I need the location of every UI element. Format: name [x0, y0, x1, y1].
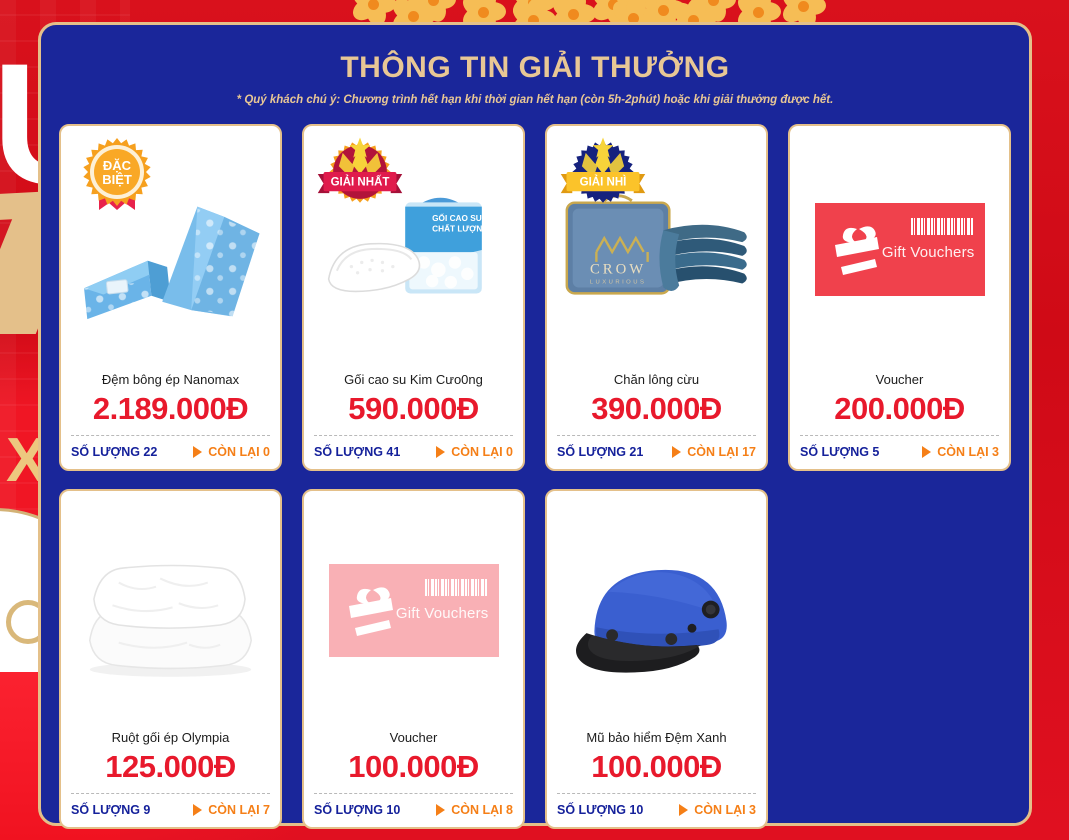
card-footer: SỐ LƯỢNG 5CÒN LẠI 3	[800, 435, 999, 469]
product-name: Ruột gối ép Olympia	[61, 730, 280, 745]
panel-note: * Quý khách chú ý: Chương trình hết hạn …	[59, 94, 1011, 106]
card-footer: SỐ LƯỢNG 10CÒN LẠI 8	[314, 793, 513, 827]
svg-text:CROW: CROW	[590, 262, 646, 278]
play-triangle-icon	[679, 804, 688, 816]
gift-voucher-label: Gift Vouchers	[882, 244, 975, 261]
svg-text:GỐI CAO SU: GỐI CAO SU	[432, 212, 482, 223]
product-name: Voucher	[790, 372, 1009, 387]
prize-card[interactable]: Gift VouchersVoucher200.000ĐSỐ LƯỢNG 5CÒ…	[788, 124, 1011, 471]
gift-voucher-image: Gift Vouchers	[815, 203, 985, 296]
svg-text:LUXURIOUS: LUXURIOUS	[590, 280, 647, 286]
prize-card[interactable]: ĐẶCBIỆTĐệm bông ép Nanomax2.189.000ĐSỐ L…	[59, 124, 282, 471]
prize-card[interactable]: Gift VouchersVoucher100.000ĐSỐ LƯỢNG 10C…	[302, 489, 525, 829]
product-image	[553, 497, 760, 724]
remaining-label: CÒN LẠI 17	[687, 445, 756, 459]
page-title: THÔNG TIN GIẢI THƯỞNG	[59, 51, 1011, 85]
svg-text:GIẢI NHẤT: GIẢI NHẤT	[331, 175, 390, 188]
remaining-label: CÒN LẠI 8	[451, 803, 513, 817]
quantity-label: SỐ LƯỢNG 10	[557, 803, 643, 817]
svg-text:BIỆT: BIỆT	[102, 172, 132, 187]
product-name: Đệm bông ép Nanomax	[61, 372, 280, 387]
remaining-group[interactable]: CÒN LẠI 3	[679, 803, 756, 817]
prize-card[interactable]: Ruột gối ép Olympia125.000ĐSỐ LƯỢNG 9CÒN…	[59, 489, 282, 829]
remaining-group[interactable]: CÒN LẠI 7	[193, 803, 270, 817]
prize-badge-second-icon: GIẢI NHÌ	[555, 130, 651, 216]
card-media: Gift Vouchers	[304, 491, 523, 730]
product-price: 100.000Đ	[547, 749, 766, 785]
barcode-icon	[425, 579, 487, 596]
prize-card[interactable]: GIẢI NHÌCROWLUXURIOUSChăn lông cừu390.00…	[545, 124, 768, 471]
svg-text:ĐẶC: ĐẶC	[103, 158, 132, 173]
svg-text:CHẤT LƯỢNG: CHẤT LƯỢNG	[432, 223, 489, 233]
prize-badge-special-icon: ĐẶCBIỆT	[69, 130, 165, 216]
product-name: Gối cao su Kim Cưo0ng	[304, 372, 523, 387]
card-footer: SỐ LƯỢNG 21CÒN LẠI 17	[557, 435, 756, 469]
card-media: Gift Vouchers	[790, 126, 1009, 372]
play-triangle-icon	[436, 804, 445, 816]
quantity-label: SỐ LƯỢNG 22	[71, 445, 157, 459]
remaining-label: CÒN LẠI 3	[937, 445, 999, 459]
play-triangle-icon	[436, 446, 445, 458]
product-name: Mũ bảo hiểm Đệm Xanh	[547, 730, 766, 745]
gift-voucher-image: Gift Vouchers	[329, 564, 499, 657]
product-price: 590.000Đ	[304, 391, 523, 427]
card-footer: SỐ LƯỢNG 22CÒN LẠI 0	[71, 435, 270, 469]
remaining-label: CÒN LẠI 3	[694, 803, 756, 817]
play-triangle-icon	[672, 446, 681, 458]
play-triangle-icon	[193, 446, 202, 458]
remaining-label: CÒN LẠI 7	[208, 803, 270, 817]
quantity-label: SỐ LƯỢNG 10	[314, 803, 400, 817]
card-footer: SỐ LƯỢNG 10CÒN LẠI 3	[557, 793, 756, 827]
quantity-label: SỐ LƯỢNG 41	[314, 445, 400, 459]
product-image	[67, 497, 274, 724]
play-triangle-icon	[922, 446, 931, 458]
prize-card-grid: ĐẶCBIỆTĐệm bông ép Nanomax2.189.000ĐSỐ L…	[59, 124, 1011, 829]
remaining-group[interactable]: CÒN LẠI 0	[193, 445, 270, 459]
product-price: 100.000Đ	[304, 749, 523, 785]
card-footer: SỐ LƯỢNG 41CÒN LẠI 0	[314, 435, 513, 469]
gift-voucher-label: Gift Vouchers	[396, 605, 489, 622]
remaining-group[interactable]: CÒN LẠI 8	[436, 803, 513, 817]
prize-card[interactable]: GIẢI NHẤTGỐI CAO SUCHẤT LƯỢNGGối cao su …	[302, 124, 525, 471]
prize-info-panel: THÔNG TIN GIẢI THƯỞNG * Quý khách chú ý:…	[38, 22, 1032, 826]
card-footer: SỐ LƯỢNG 9CÒN LẠI 7	[71, 793, 270, 827]
remaining-label: CÒN LẠI 0	[208, 445, 270, 459]
product-price: 125.000Đ	[61, 749, 280, 785]
barcode-icon	[911, 218, 973, 235]
remaining-group[interactable]: CÒN LẠI 0	[436, 445, 513, 459]
product-price: 390.000Đ	[547, 391, 766, 427]
card-media	[61, 491, 280, 730]
product-price: 200.000Đ	[790, 391, 1009, 427]
remaining-group[interactable]: CÒN LẠI 3	[922, 445, 999, 459]
quantity-label: SỐ LƯỢNG 21	[557, 445, 643, 459]
product-name: Chăn lông cừu	[547, 372, 766, 387]
quantity-label: SỐ LƯỢNG 9	[71, 803, 150, 817]
play-triangle-icon	[193, 804, 202, 816]
product-price: 2.189.000Đ	[61, 391, 280, 427]
svg-text:GIẢI NHÌ: GIẢI NHÌ	[580, 175, 627, 188]
quantity-label: SỐ LƯỢNG 5	[800, 445, 879, 459]
prize-badge-first-icon: GIẢI NHẤT	[312, 130, 408, 216]
product-name: Voucher	[304, 730, 523, 745]
remaining-group[interactable]: CÒN LẠI 17	[672, 445, 756, 459]
prize-card[interactable]: Mũ bảo hiểm Đệm Xanh100.000ĐSỐ LƯỢNG 10C…	[545, 489, 768, 829]
card-media	[547, 491, 766, 730]
remaining-label: CÒN LẠI 0	[451, 445, 513, 459]
